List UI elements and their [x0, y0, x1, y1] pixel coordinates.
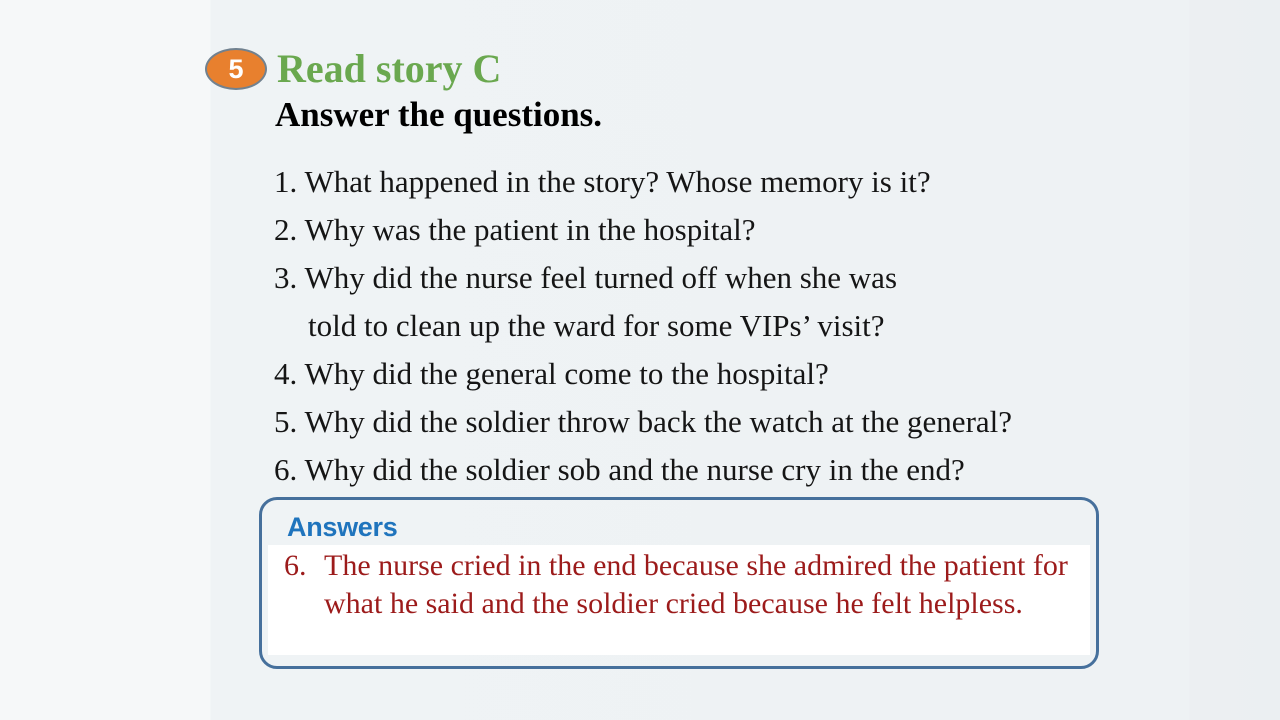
list-item: 4. Why did the general come to the hospi… [274, 350, 1254, 398]
question-text-continuation: told to clean up the ward for some VIPs’… [274, 302, 1254, 350]
answers-label: Answers [287, 512, 397, 542]
list-item: 2. Why was the patient in the hospital? [274, 206, 1254, 254]
question-number: 4. [274, 356, 297, 391]
question-text: Why did the nurse feel turned off when s… [304, 260, 897, 295]
question-text: Why did the general come to the hospital… [304, 356, 828, 391]
answer-entry: 6. The nurse cried in the end because sh… [284, 547, 1084, 623]
slide-canvas: 5 Read story C Answer the questions. 1. … [0, 0, 1280, 720]
answer-body: The nurse cried in the end because she a… [324, 547, 1084, 623]
exercise-number-badge: 5 [205, 48, 267, 90]
list-item: 6. Why did the soldier sob and the nurse… [274, 446, 1254, 494]
questions-list: 1. What happened in the story? Whose mem… [274, 158, 1254, 494]
question-number: 2. [274, 212, 297, 247]
page-subtitle: Answer the questions. [275, 95, 602, 135]
list-item: 5. Why did the soldier throw back the wa… [274, 398, 1254, 446]
question-number: 6. [274, 452, 297, 487]
page-title: Read story C [277, 47, 501, 91]
question-number: 1. [274, 164, 297, 199]
question-text: What happened in the story? Whose memory… [304, 164, 930, 199]
question-number: 5. [274, 404, 297, 439]
answer-number: 6. [284, 547, 324, 585]
question-text: Why did the soldier sob and the nurse cr… [304, 452, 964, 487]
list-item: 3. Why did the nurse feel turned off whe… [274, 254, 1254, 302]
exercise-heading: 5 Read story C [205, 47, 501, 91]
question-text: Why was the patient in the hospital? [304, 212, 755, 247]
list-item: 1. What happened in the story? Whose mem… [274, 158, 1254, 206]
question-text: Why did the soldier throw back the watch… [304, 404, 1012, 439]
question-number: 3. [274, 260, 297, 295]
